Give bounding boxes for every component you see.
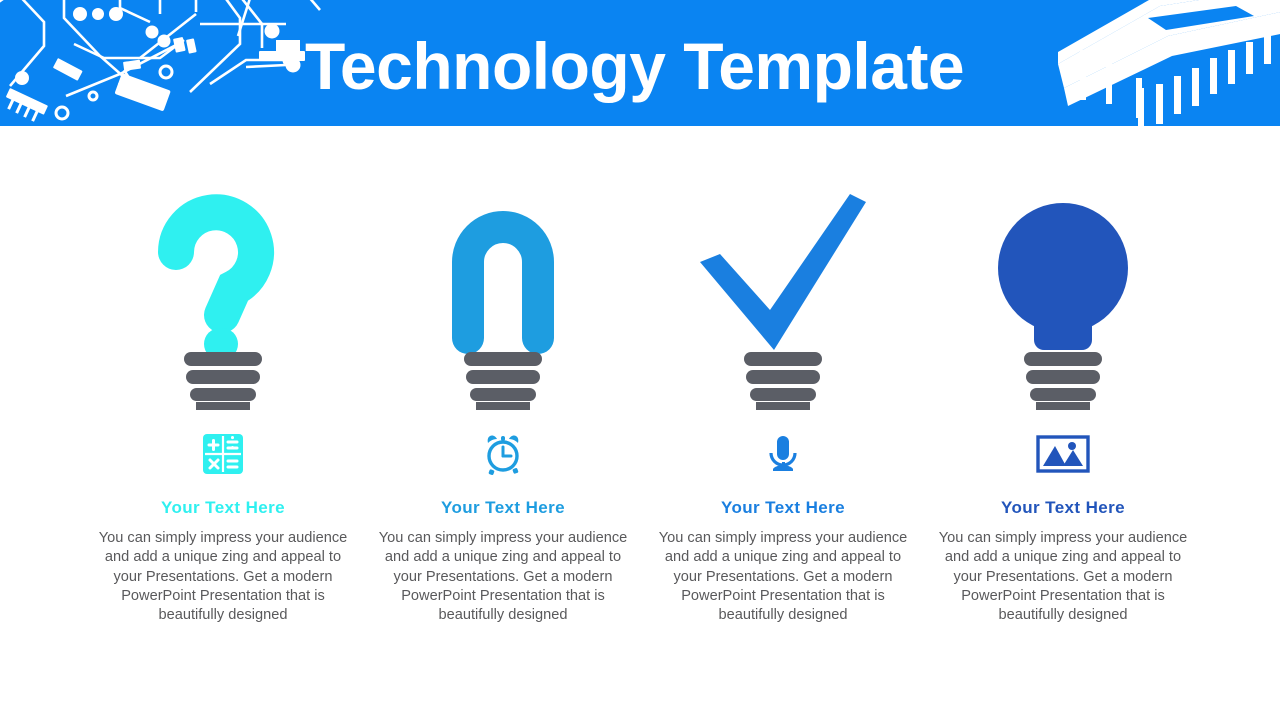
column-body: You can simply impress your audience and… (378, 529, 628, 625)
feature-columns: Your Text Here You can simply impress yo… (83, 190, 1203, 625)
column-body: You can simply impress your audience and… (98, 529, 348, 625)
column-body: You can simply impress your audience and… (658, 529, 908, 625)
bulb-base (744, 352, 822, 410)
bulb-arch (403, 190, 603, 410)
bulb-question-mark (123, 190, 323, 410)
question-mark-bulb-icon (148, 190, 298, 410)
column-body: You can simply impress your audience and… (938, 529, 1188, 625)
bulb-solid (963, 190, 1163, 410)
feature-column[interactable]: Your Text Here You can simply impress yo… (923, 190, 1203, 625)
calculator-icon (202, 432, 244, 476)
feature-column[interactable]: Your Text Here You can simply impress yo… (83, 190, 363, 625)
microchip-graphic (1040, 0, 1280, 162)
column-title: Your Text Here (161, 498, 285, 518)
header-band: Technology Template (0, 0, 1280, 126)
microphone-icon (762, 432, 804, 476)
solid-bulb-icon (988, 190, 1138, 410)
alarm-clock-icon (482, 432, 524, 476)
column-title: Your Text Here (721, 498, 845, 518)
arch-bulb-icon (428, 190, 578, 410)
bulb-base (464, 352, 542, 410)
slide-canvas: Technology Template (0, 0, 1280, 720)
feature-column[interactable]: Your Text Here You can simply impress yo… (363, 190, 643, 625)
bulb-checkmark (683, 190, 883, 410)
page-title: Technology Template (305, 26, 1065, 106)
column-title: Your Text Here (1001, 498, 1125, 518)
bulb-base (184, 352, 262, 410)
column-title: Your Text Here (441, 498, 565, 518)
picture-icon (1036, 432, 1090, 476)
feature-column[interactable]: Your Text Here You can simply impress yo… (643, 190, 923, 625)
checkmark-bulb-icon (688, 190, 878, 410)
bulb-base (1024, 352, 1102, 410)
